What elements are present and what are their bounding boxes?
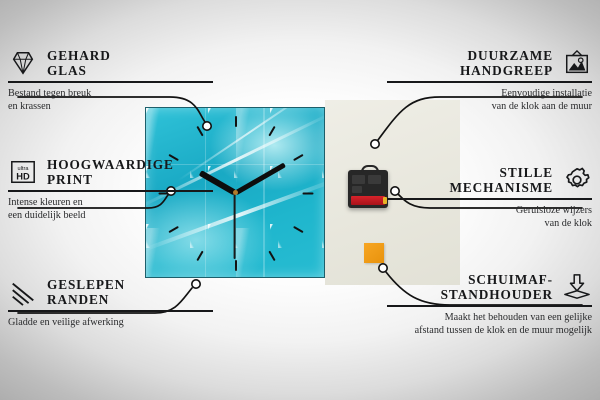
picture-frame-icon: [562, 49, 592, 77]
feature-title: GESLEPEN RANDEN: [47, 277, 125, 307]
svg-text:HD: HD: [16, 171, 30, 181]
feature-description: Geruisloze wijzers van de klok: [387, 204, 592, 231]
feature-description: Intense kleuren en een duidelijk beeld: [8, 196, 213, 223]
feature-title: GEHARD GLAS: [47, 48, 111, 78]
feature-duurzame-handgreep: DUURZAME HANDGREEP Eenvoudige installati…: [387, 48, 592, 114]
feature-geslepen-randen: GESLEPEN RANDEN Gladde en veilige afwerk…: [8, 277, 213, 329]
feature-heading: ultra HD HOOGWAARDIGE PRINT: [8, 157, 213, 187]
gear-icon: [562, 166, 592, 194]
arrow-down-pad-icon: [562, 273, 592, 301]
feature-heading: GESLEPEN RANDEN: [8, 277, 213, 307]
feature-title: DUURZAME HANDGREEP: [460, 48, 553, 78]
feature-title: STILLE MECHANISME: [449, 165, 553, 195]
feature-schuimafstandhouder: SCHUIMAF- STANDHOUDER Maakt het behouden…: [387, 272, 592, 338]
feature-title: SCHUIMAF- STANDHOUDER: [441, 272, 553, 302]
feature-hoogwaardige-print: ultra HD HOOGWAARDIGE PRINT Intense kleu…: [8, 157, 213, 223]
divider: [387, 305, 592, 307]
feature-title: HOOGWAARDIGE PRINT: [47, 157, 174, 187]
infographic-canvas: GEHARD GLAS Bestand tegen breuk en krass…: [0, 0, 600, 400]
diamond-icon: [8, 49, 38, 77]
feature-heading: DUURZAME HANDGREEP: [387, 48, 592, 78]
ultra-hd-icon: ultra HD: [8, 158, 38, 186]
wire-endpoint: [203, 122, 211, 130]
feature-heading: STILLE MECHANISME: [387, 165, 592, 195]
diagonal-lines-icon: [8, 278, 38, 306]
divider: [387, 81, 592, 83]
feature-description: Maakt het behouden van een gelijke afsta…: [387, 311, 592, 338]
feature-description: Bestand tegen breuk en krassen: [8, 87, 213, 114]
feature-description: Gladde en veilige afwerking: [8, 316, 213, 330]
divider: [8, 81, 213, 83]
feature-heading: GEHARD GLAS: [8, 48, 213, 78]
feature-stille-mechanisme: STILLE MECHANISME Geruisloze wijzers van…: [387, 165, 592, 231]
feature-heading: SCHUIMAF- STANDHOUDER: [387, 272, 592, 302]
divider: [387, 198, 592, 200]
wire-endpoint: [379, 264, 387, 272]
wire-endpoint: [371, 140, 379, 148]
feature-gehard-glas: GEHARD GLAS Bestand tegen breuk en krass…: [8, 48, 213, 114]
divider: [8, 310, 213, 312]
divider: [8, 190, 213, 192]
feature-description: Eenvoudige installatie van de klok aan d…: [387, 87, 592, 114]
